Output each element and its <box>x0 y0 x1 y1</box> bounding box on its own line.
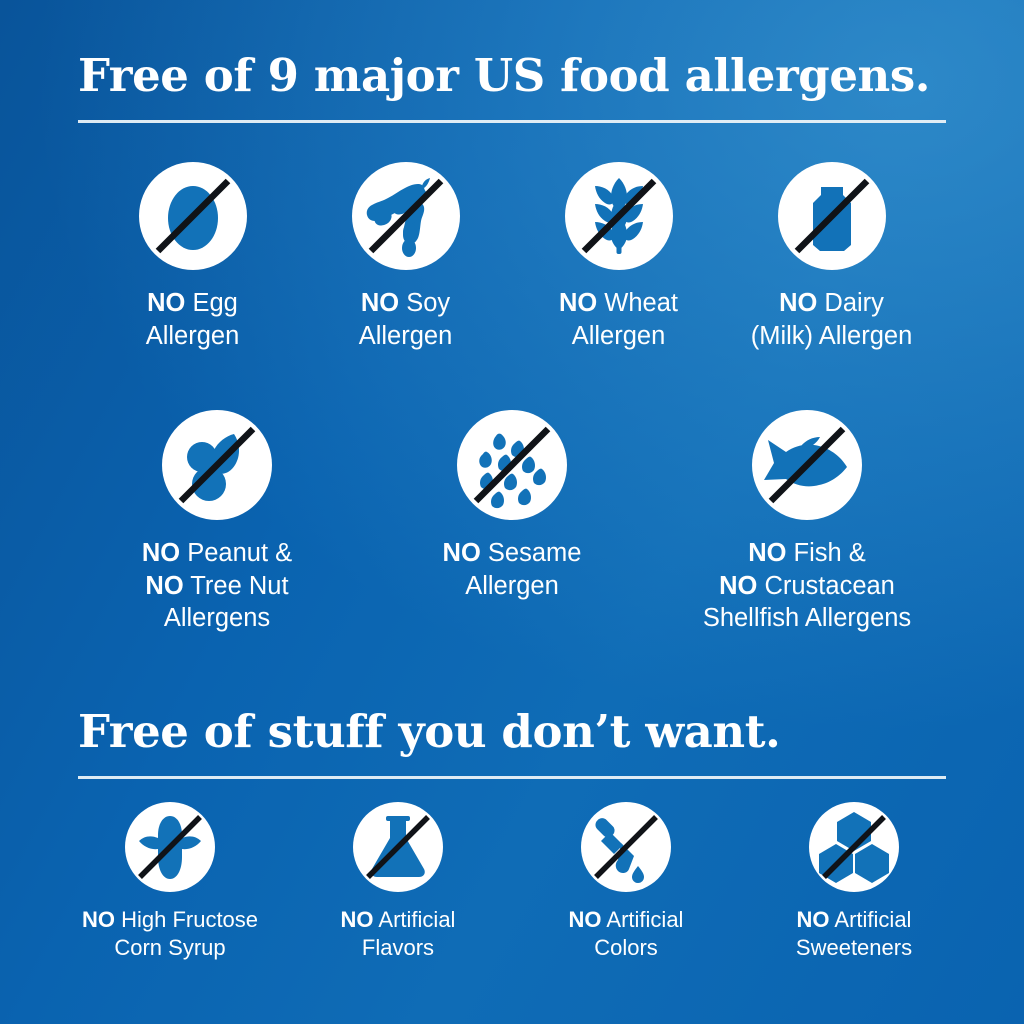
allergen-item-wheat: NO Wheat Allergen <box>512 162 725 352</box>
allergen-free-poster: Free of 9 major US food allergens. NO Eg… <box>0 0 1024 1024</box>
no-prefix: NO <box>559 289 597 317</box>
allergens-section-title: Free of 9 major US food allergens. <box>78 52 946 99</box>
corn-icon <box>125 802 215 892</box>
no-prefix: NO <box>82 907 115 932</box>
stuff-item-high-fructose-corn-syrup: NO High Fructose Corn Syrup <box>56 802 284 962</box>
no-prefix: NO <box>361 289 399 317</box>
milk-carton-badge <box>778 162 886 270</box>
allergen-label-sesame: NO Sesame Allergen <box>443 537 582 602</box>
allergen-rest: (Milk) Allergen <box>751 322 913 350</box>
soy-icon <box>352 162 460 270</box>
wheat-badge <box>565 162 673 270</box>
allergen-name: Wheat <box>597 289 678 317</box>
allergen-name: Fish & <box>786 539 865 567</box>
allergen-rest: Shellfish Allergens <box>703 604 911 632</box>
allergen-name-2: Crustacean <box>757 572 895 600</box>
stuff-row-1: NO High Fructose Corn Syrup NO Artificia… <box>0 802 1024 962</box>
allergens-section-divider <box>78 120 946 123</box>
allergen-name-2: Tree Nut <box>184 572 289 600</box>
allergen-label-fish-shellfish: NO Fish & NO Crustacean Shellfish Allerg… <box>703 537 911 635</box>
stuff-rest: Flavors <box>362 935 434 960</box>
peanut-tree-nut-badge <box>162 410 272 520</box>
stuff-section-divider <box>78 776 946 779</box>
allergen-item-sesame: NO Sesame Allergen <box>365 410 660 602</box>
stuff-name: Artificial <box>602 907 684 932</box>
fish-badge <box>752 410 862 520</box>
sesame-badge <box>457 410 567 520</box>
no-prefix: NO <box>147 289 185 317</box>
allergen-rest: Allergen <box>146 322 240 350</box>
allergen-label-wheat: NO Wheat Allergen <box>559 287 678 352</box>
stuff-label-artificial-sweeteners: NO Artificial Sweeteners <box>796 906 912 962</box>
hexagons-badge <box>809 802 899 892</box>
allergen-rest: Allergens <box>164 604 270 632</box>
allergen-rest: Allergen <box>359 322 453 350</box>
wheat-icon <box>565 162 673 270</box>
no-prefix-2: NO <box>719 572 757 600</box>
allergen-name: Egg <box>185 289 237 317</box>
stuff-rest: Colors <box>594 935 658 960</box>
hexagons-icon <box>809 802 899 892</box>
stuff-item-artificial-colors: NO Artificial Colors <box>512 802 740 962</box>
no-prefix: NO <box>142 539 180 567</box>
sesame-icon <box>457 410 567 520</box>
stuff-rest: Corn Syrup <box>114 935 225 960</box>
flask-icon <box>353 802 443 892</box>
stuff-name: Artificial <box>374 907 456 932</box>
corn-badge <box>125 802 215 892</box>
no-prefix: NO <box>443 539 481 567</box>
allergen-item-peanut-tree-nut: NO Peanut & NO Tree Nut Allergens <box>70 410 365 635</box>
allergen-name: Peanut & <box>180 539 292 567</box>
allergens-row-2: NO Peanut & NO Tree Nut Allergens <box>0 410 1024 635</box>
allergen-rest: Allergen <box>465 572 559 600</box>
no-prefix-2: NO <box>145 572 183 600</box>
allergen-name: Sesame <box>481 539 582 567</box>
no-prefix: NO <box>569 907 602 932</box>
fish-icon <box>752 410 862 520</box>
allergens-section-header: Free of 9 major US food allergens. <box>0 52 1024 123</box>
stuff-name: High Fructose <box>115 907 258 932</box>
allergen-name: Soy <box>399 289 450 317</box>
stuff-item-artificial-flavors: NO Artificial Flavors <box>284 802 512 962</box>
stuff-section-title: Free of stuff you don’t want. <box>78 708 946 755</box>
allergen-label-peanut-tree-nut: NO Peanut & NO Tree Nut Allergens <box>142 537 292 635</box>
allergen-item-soy: NO Soy Allergen <box>299 162 512 352</box>
milk-carton-icon <box>778 162 886 270</box>
flask-badge <box>353 802 443 892</box>
stuff-rest: Sweeteners <box>796 935 912 960</box>
stuff-name: Artificial <box>830 907 912 932</box>
allergen-item-egg: NO Egg Allergen <box>86 162 299 352</box>
egg-badge <box>139 162 247 270</box>
allergen-item-dairy: NO Dairy (Milk) Allergen <box>725 162 938 352</box>
dropper-icon <box>581 802 671 892</box>
allergen-name: Dairy <box>817 289 884 317</box>
stuff-section-header: Free of stuff you don’t want. <box>0 708 1024 779</box>
stuff-item-artificial-sweeteners: NO Artificial Sweeteners <box>740 802 968 962</box>
allergens-row-1: NO Egg Allergen <box>0 162 1024 352</box>
stuff-label-high-fructose-corn-syrup: NO High Fructose Corn Syrup <box>82 906 258 962</box>
no-prefix: NO <box>748 539 786 567</box>
stuff-label-artificial-flavors: NO Artificial Flavors <box>341 906 456 962</box>
dropper-badge <box>581 802 671 892</box>
allergen-label-dairy: NO Dairy (Milk) Allergen <box>751 287 913 352</box>
soy-badge <box>352 162 460 270</box>
allergen-item-fish-shellfish: NO Fish & NO Crustacean Shellfish Allerg… <box>660 410 955 635</box>
no-prefix: NO <box>341 907 374 932</box>
peanut-tree-nut-icon <box>162 410 272 520</box>
no-prefix: NO <box>797 907 830 932</box>
stuff-label-artificial-colors: NO Artificial Colors <box>569 906 684 962</box>
allergen-label-soy: NO Soy Allergen <box>359 287 453 352</box>
allergen-label-egg: NO Egg Allergen <box>146 287 240 352</box>
egg-icon <box>139 162 247 270</box>
no-prefix: NO <box>779 289 817 317</box>
allergen-rest: Allergen <box>572 322 666 350</box>
